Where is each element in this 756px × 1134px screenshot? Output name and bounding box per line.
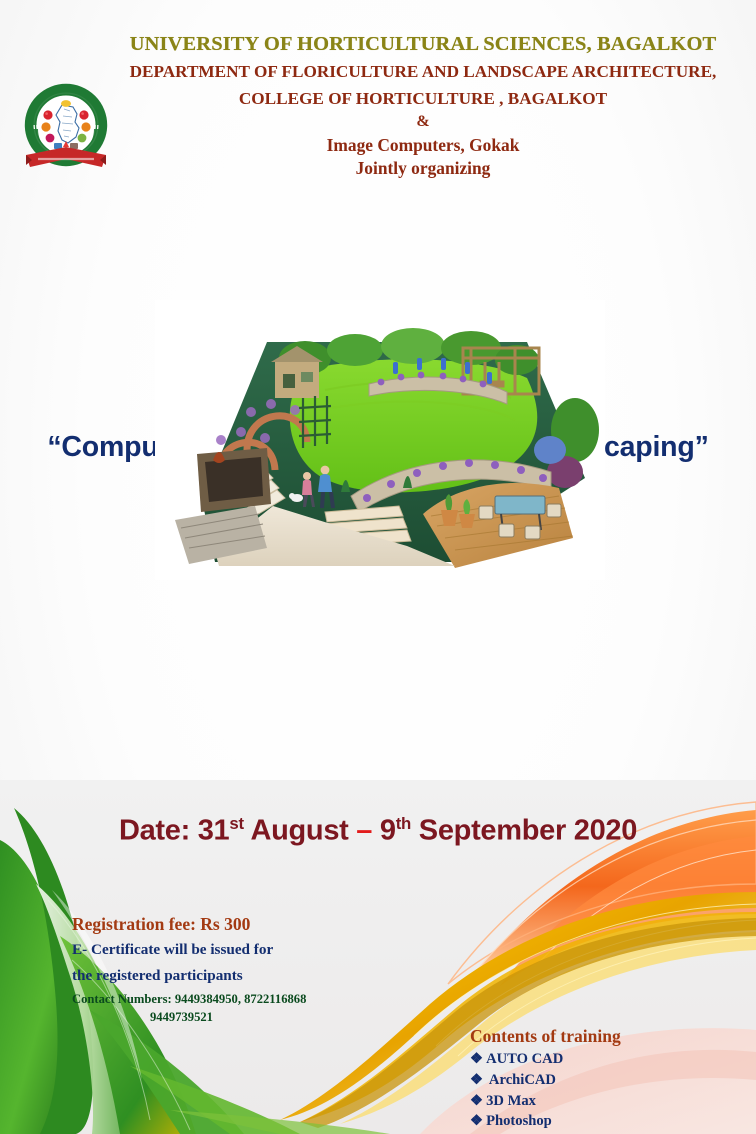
university-logo xyxy=(18,81,114,177)
date-month2: September xyxy=(419,815,566,847)
diamond-bullet-icon: ❖ xyxy=(470,1093,483,1109)
department-line-2: COLLEGE OF HORTICULTURE , BAGALKOT xyxy=(96,88,750,110)
contents-item: ❖Photoshop xyxy=(470,1111,740,1132)
poster-canvas: UNIVERSITY OF HORTICULTURAL SCIENCES, BA… xyxy=(0,0,756,1134)
diamond-bullet-icon: ❖ xyxy=(470,1113,483,1129)
contact-numbers-line-1: 9449384950, 8722116868 xyxy=(175,992,307,1006)
poster-header: UNIVERSITY OF HORTICULTURAL SCIENCES, BA… xyxy=(0,33,756,180)
contents-list: ❖AUTO CAD ❖ ArchiCAD ❖3D Max ❖Photoshop xyxy=(470,1049,740,1132)
department-line-1: DEPARTMENT OF FLORICULTURE AND LANDSCAPE… xyxy=(96,61,750,83)
certificate-line-2: the registered participants xyxy=(72,964,462,988)
date-day1-suffix: st xyxy=(229,814,243,833)
garden-design-image xyxy=(155,300,605,580)
diamond-bullet-icon: ❖ xyxy=(470,1072,483,1088)
diamond-bullet-icon: ❖ xyxy=(470,1051,483,1067)
contents-item-label: 3D Max xyxy=(486,1093,536,1109)
date-dash: – xyxy=(356,815,372,847)
contents-heading: Contents of training xyxy=(470,1026,740,1047)
jointly-organizing: Jointly organizing xyxy=(96,157,750,180)
date-day1: 31 xyxy=(198,815,230,847)
university-name: UNIVERSITY OF HORTICULTURAL SCIENCES, BA… xyxy=(96,33,750,56)
partner-name: Image Computers, Gokak xyxy=(96,134,750,157)
date-label: Date: xyxy=(119,815,190,847)
ampersand: & xyxy=(96,113,750,131)
contact-numbers-line-2: 9449739521 xyxy=(72,1008,462,1026)
certificate-line-1: E- Certificate will be issued for xyxy=(72,938,462,962)
date-day2: 9 xyxy=(380,815,396,847)
date-day2-suffix: th xyxy=(396,814,411,833)
registration-fee: Registration fee: Rs 300 xyxy=(72,914,462,935)
contact-numbers: Contact Numbers: 9449384950, 8722116868 … xyxy=(72,990,462,1027)
contents-item-label: ArchiCAD xyxy=(486,1072,556,1088)
contents-item: ❖3D Max xyxy=(470,1091,740,1112)
registration-info-block: Registration fee: Rs 300 E- Certificate … xyxy=(72,914,462,1027)
date-year: 2020 xyxy=(574,815,637,847)
date-month1: August xyxy=(250,815,348,847)
contents-item: ❖ ArchiCAD xyxy=(470,1070,740,1091)
contact-label: Contact Numbers: xyxy=(72,992,172,1006)
event-date: Date: 31st August – 9th September 2020 xyxy=(0,814,756,848)
training-contents-block: Contents of training ❖AUTO CAD ❖ ArchiCA… xyxy=(470,1026,740,1132)
contents-item: ❖AUTO CAD xyxy=(470,1049,740,1070)
contents-item-label: AUTO CAD xyxy=(486,1051,563,1067)
contents-item-label: Photoshop xyxy=(486,1113,552,1129)
